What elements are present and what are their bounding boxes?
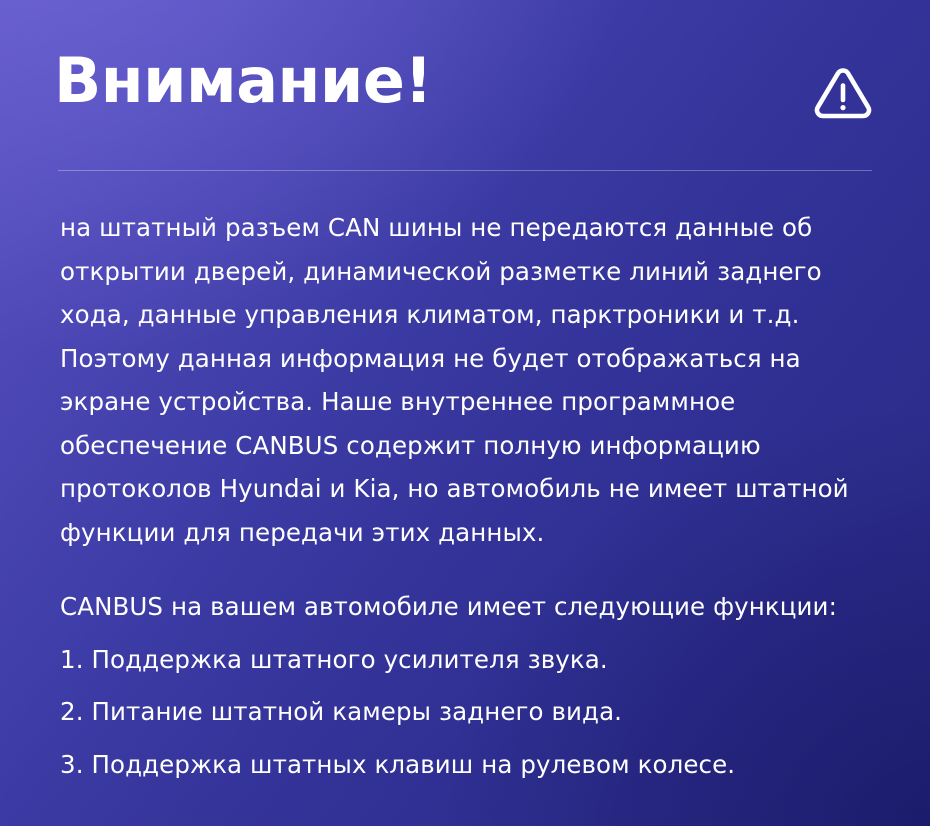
- notice-line: протоколов Hyundai и Kia, но автомобиль …: [60, 467, 878, 511]
- notice-line: экране устройства. Наше внутреннее прогр…: [60, 380, 878, 424]
- warning-triangle-icon: [812, 62, 874, 124]
- features-paragraph: CANBUS на вашем автомобиле имеет следующ…: [60, 585, 878, 786]
- notice-line: на штатный разъем CAN шины не передаются…: [60, 206, 878, 250]
- features-intro-text: CANBUS на вашем автомобиле имеет следующ…: [60, 585, 878, 629]
- notice-paragraph: на штатный разъем CAN шины не передаются…: [60, 206, 878, 554]
- feature-list-item: 2. Питание штатной камеры заднего вида.: [60, 690, 878, 734]
- notice-line: открытии дверей, динамической разметке л…: [60, 250, 878, 294]
- banner-header: Внимание!: [0, 0, 930, 170]
- header-divider: [58, 170, 872, 171]
- notice-line: Поэтому данная информация не будет отобр…: [60, 337, 878, 381]
- banner-body: на штатный разъем CAN шины не передаются…: [60, 206, 878, 786]
- page-title: Внимание!: [54, 50, 432, 112]
- notice-line: хода, данные управления климатом, парктр…: [60, 293, 878, 337]
- notice-line: функции для передачи этих данных.: [60, 511, 878, 555]
- warning-banner: Внимание! на штатный разъем CAN шины не …: [0, 0, 930, 826]
- feature-list-item: 1. Поддержка штатного усилителя звука.: [60, 638, 878, 682]
- notice-line: обеспечение CANBUS содержит полную инфор…: [60, 424, 878, 468]
- feature-list-item: 3. Поддержка штатных клавиш на рулевом к…: [60, 743, 878, 787]
